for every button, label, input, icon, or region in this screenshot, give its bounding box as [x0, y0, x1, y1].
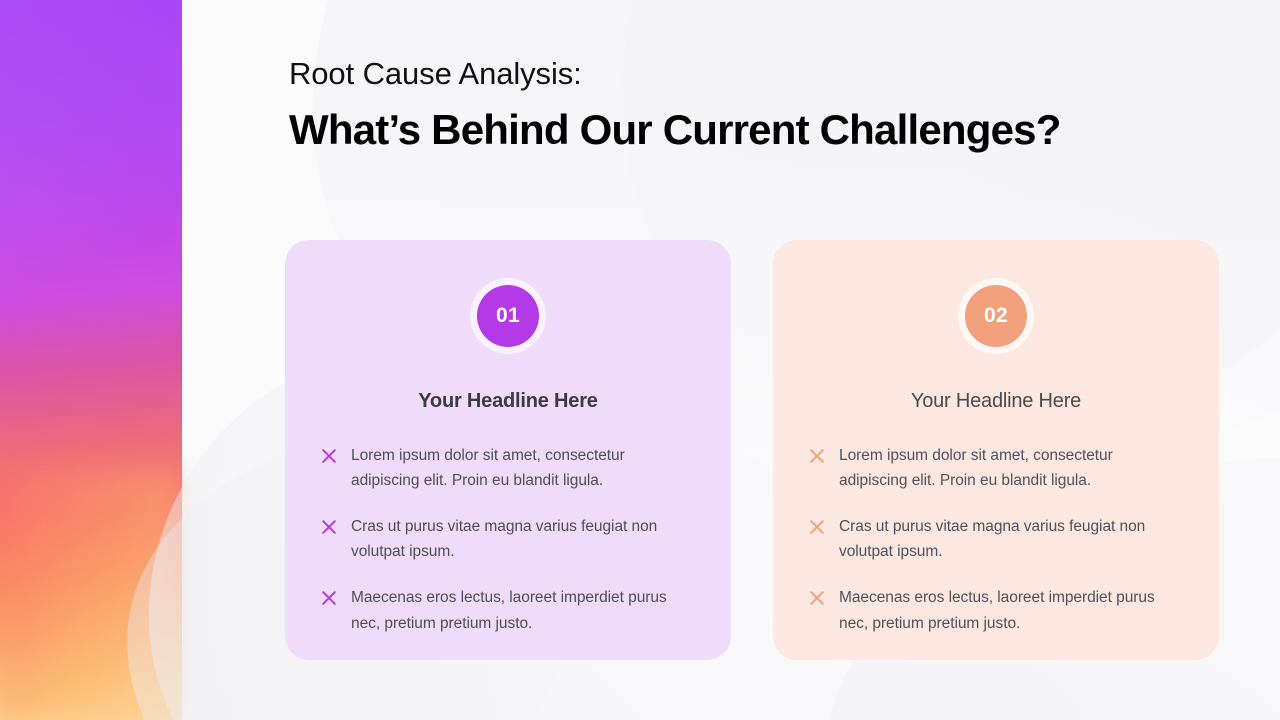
card-01[interactable]: 01 Your Headline Here Lorem ipsum dolor … — [285, 240, 731, 660]
list-item: Maecenas eros lectus, laoreet imperdiet … — [321, 585, 687, 635]
list-item: Maecenas eros lectus, laoreet imperdiet … — [809, 585, 1175, 635]
badge-number-01: 01 — [477, 285, 539, 347]
list-item-text: Lorem ipsum dolor sit amet, consectetur … — [351, 443, 687, 493]
slide-header: Root Cause Analysis: What’s Behind Our C… — [289, 56, 1209, 153]
slide-canvas: Root Cause Analysis: What’s Behind Our C… — [0, 0, 1280, 720]
list-item-text: Maecenas eros lectus, laoreet imperdiet … — [839, 585, 1175, 635]
badge-number-02: 02 — [965, 285, 1027, 347]
slide-headline: What’s Behind Our Current Challenges? — [289, 107, 1209, 153]
list-item: Cras ut purus vitae magna varius feugiat… — [809, 514, 1175, 564]
x-icon — [809, 448, 825, 464]
cards-container: 01 Your Headline Here Lorem ipsum dolor … — [285, 240, 1220, 660]
x-icon — [321, 590, 337, 606]
list-item-text: Maecenas eros lectus, laoreet imperdiet … — [351, 585, 687, 635]
list-item: Cras ut purus vitae magna varius feugiat… — [321, 514, 687, 564]
list-item: Lorem ipsum dolor sit amet, consectetur … — [809, 443, 1175, 493]
x-icon — [809, 519, 825, 535]
x-icon — [809, 590, 825, 606]
x-icon — [321, 519, 337, 535]
list-item: Lorem ipsum dolor sit amet, consectetur … — [321, 443, 687, 493]
card-02-headline: Your Headline Here — [803, 390, 1189, 413]
list-item-text: Lorem ipsum dolor sit amet, consectetur … — [839, 443, 1175, 493]
badge-ring-01: 01 — [470, 278, 546, 354]
card-02-bullet-list: Lorem ipsum dolor sit amet, consectetur … — [803, 443, 1189, 636]
card-02[interactable]: 02 Your Headline Here Lorem ipsum dolor … — [773, 240, 1219, 660]
x-icon — [321, 448, 337, 464]
list-item-text: Cras ut purus vitae magna varius feugiat… — [839, 514, 1175, 564]
list-item-text: Cras ut purus vitae magna varius feugiat… — [351, 514, 687, 564]
badge-ring-02: 02 — [958, 278, 1034, 354]
slide-eyebrow: Root Cause Analysis: — [289, 56, 1209, 93]
card-01-headline: Your Headline Here — [315, 390, 701, 413]
card-01-bullet-list: Lorem ipsum dolor sit amet, consectetur … — [315, 443, 701, 636]
